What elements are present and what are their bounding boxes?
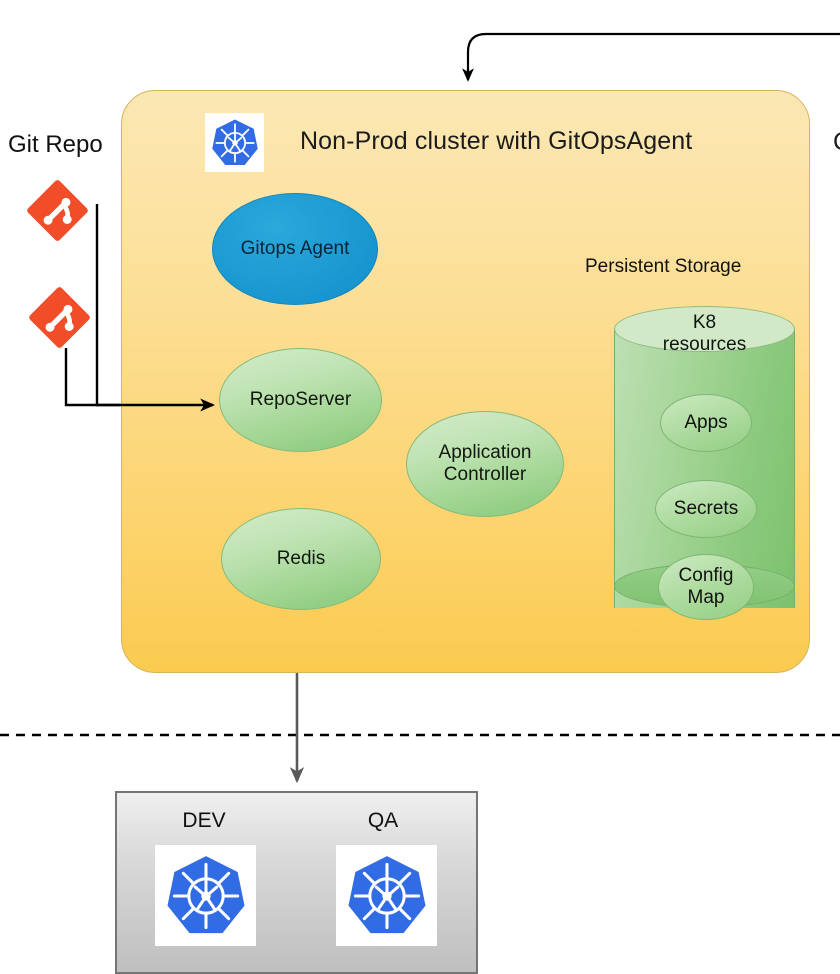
config-map-label: Config Map (679, 565, 734, 609)
git-icon[interactable] (27, 285, 92, 350)
k8-resources-cylinder[interactable]: K8 resources Apps Secrets Config Map (614, 306, 795, 630)
git-icon[interactable] (25, 178, 90, 243)
offscreen-cluster-label: C (833, 128, 840, 157)
k8-resources-label: K8 resources (614, 312, 795, 356)
diagram-canvas: Non-Prod cluster with GitOpsAgent C Git … (0, 0, 840, 974)
repo-server-label: RepoServer (250, 389, 351, 411)
secrets-label: Secrets (674, 498, 738, 520)
config-map-label-line2: Map (688, 587, 725, 608)
kubernetes-icon[interactable] (336, 845, 437, 946)
application-controller-label-line2: Controller (444, 464, 526, 485)
git-repo-label: Git Repo (8, 131, 103, 159)
secrets-node[interactable]: Secrets (655, 480, 757, 538)
config-map-node[interactable]: Config Map (658, 554, 754, 620)
repo-server-node[interactable]: RepoServer (219, 348, 382, 452)
env-qa-label: QA (338, 809, 428, 833)
k8-resources-label-line2: resources (663, 334, 746, 355)
connector-external-to-cluster (468, 34, 840, 80)
k8-resources-label-line1: K8 (693, 312, 716, 333)
kubernetes-icon[interactable] (155, 845, 256, 946)
redis-label: Redis (277, 548, 326, 570)
gitops-agent-node[interactable]: Gitops Agent (212, 193, 378, 305)
application-controller-label-line1: Application (439, 442, 532, 463)
cluster-title: Non-Prod cluster with GitOpsAgent (300, 127, 770, 156)
application-controller-node[interactable]: Application Controller (406, 411, 564, 517)
apps-node[interactable]: Apps (660, 394, 752, 452)
application-controller-label: Application Controller (439, 442, 532, 486)
persistent-storage-label: Persistent Storage (585, 256, 741, 278)
redis-node[interactable]: Redis (221, 508, 381, 610)
connector-git2-to-reposerver (66, 348, 120, 405)
kubernetes-icon (205, 113, 264, 172)
config-map-label-line1: Config (679, 565, 734, 586)
env-dev-label: DEV (159, 809, 249, 833)
gitops-agent-label: Gitops Agent (241, 238, 350, 260)
apps-label: Apps (684, 412, 727, 434)
